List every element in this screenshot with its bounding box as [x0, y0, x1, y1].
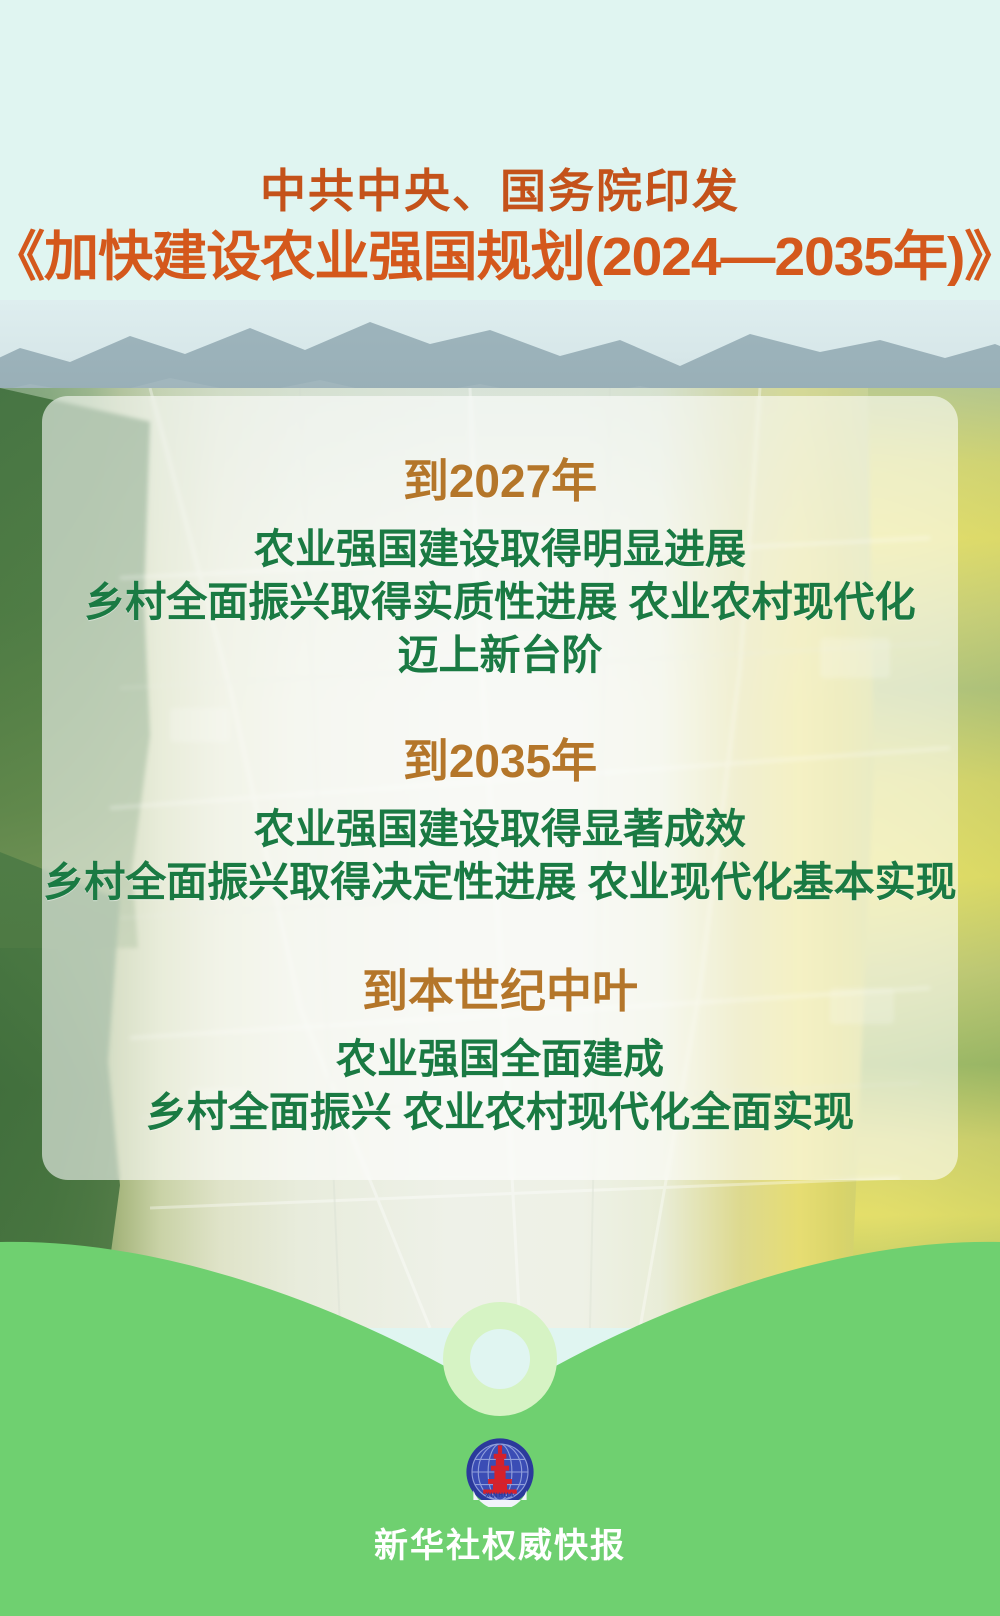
svg-text:XINHUA: XINHUA	[485, 1492, 514, 1499]
milestone-heading: 到2027年	[0, 456, 1000, 507]
xinhua-logo-icon: XINHUA	[465, 1437, 535, 1507]
page-title: 《加快建设农业强国规划(2024—2035年)》	[0, 228, 1000, 287]
header-kicker: 中共中央、国务院印发	[0, 168, 1000, 214]
poster: 中共中央、国务院印发 《加快建设农业强国规划(2024—2035年)》 到202…	[0, 0, 1000, 1616]
milestone-lines: 农业强国建设取得显著成效 乡村全面振兴取得决定性进展 农业现代化基本实现	[0, 803, 1000, 910]
header: 中共中央、国务院印发 《加快建设农业强国规划(2024—2035年)》	[0, 0, 1000, 300]
milestone-line: 农业强国建设取得明显进展	[0, 523, 1000, 576]
milestone-heading: 到2035年	[0, 736, 1000, 787]
milestone-line: 乡村全面振兴取得实质性进展 农业农村现代化	[0, 576, 1000, 629]
milestone-block-2035: 到2035年 农业强国建设取得显著成效 乡村全面振兴取得决定性进展 农业现代化基…	[0, 736, 1000, 909]
milestone-line: 乡村全面振兴取得决定性进展 农业现代化基本实现	[0, 856, 1000, 909]
milestone-line: 农业强国全面建成	[0, 1033, 1000, 1086]
milestone-line: 迈上新台阶	[0, 629, 1000, 682]
milestone-block-midcentury: 到本世纪中叶 农业强国全面建成 乡村全面振兴 农业农村现代化全面实现	[0, 966, 1000, 1139]
milestone-lines: 农业强国建设取得明显进展 乡村全面振兴取得实质性进展 农业农村现代化 迈上新台阶	[0, 523, 1000, 683]
decorative-ring-icon	[443, 1302, 557, 1416]
milestone-line: 农业强国建设取得显著成效	[0, 803, 1000, 856]
footer-brand: 新华社权威快报	[0, 1518, 1000, 1567]
milestone-lines: 农业强国全面建成 乡村全面振兴 农业农村现代化全面实现	[0, 1033, 1000, 1140]
milestone-heading: 到本世纪中叶	[0, 966, 1000, 1017]
milestone-line: 乡村全面振兴 农业农村现代化全面实现	[0, 1086, 1000, 1139]
milestone-block-2027: 到2027年 农业强国建设取得明显进展 乡村全面振兴取得实质性进展 农业农村现代…	[0, 456, 1000, 682]
